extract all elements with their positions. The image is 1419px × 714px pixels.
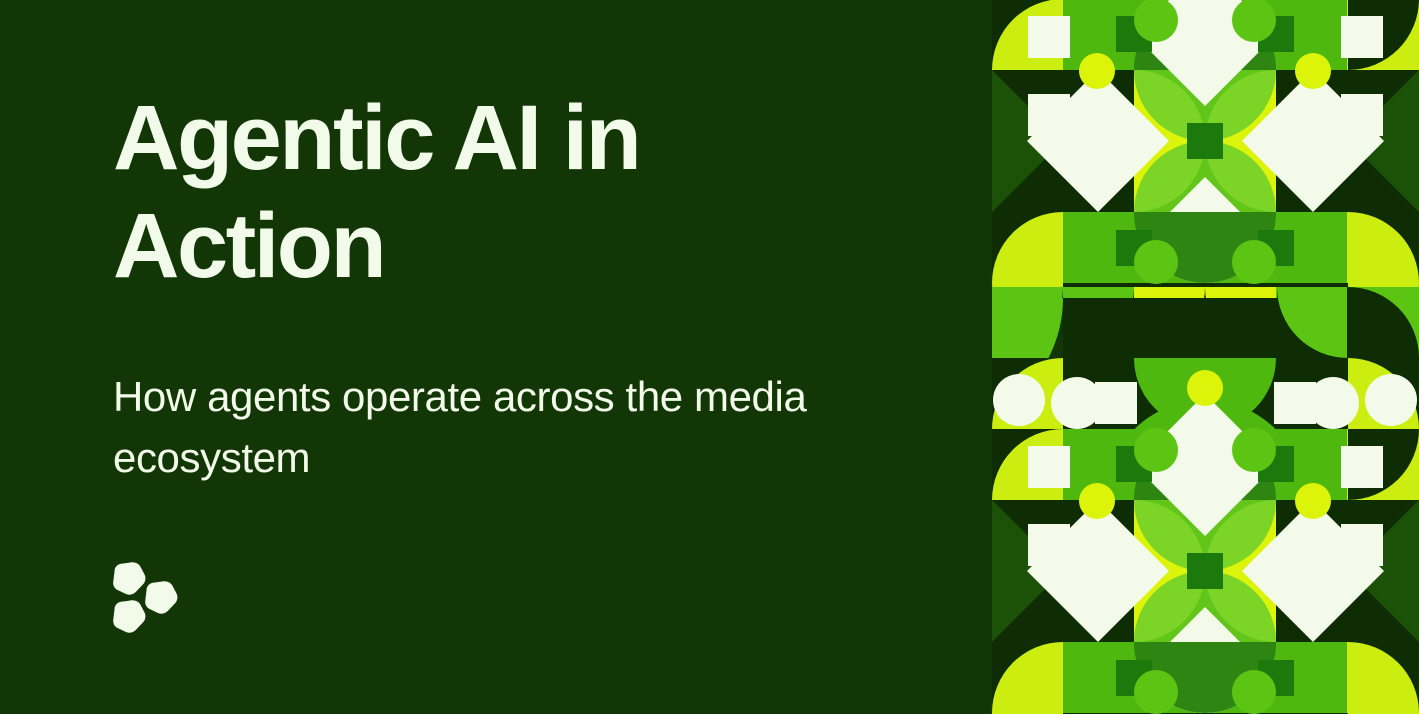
text-column: Agentic AI in Action How agents operate … — [0, 0, 992, 714]
slide-canvas: Agentic AI in Action How agents operate … — [0, 0, 1419, 714]
decorative-pattern-panel — [992, 0, 1419, 714]
three-hexagon-logo-icon — [110, 562, 180, 636]
page-subtitle: How agents operate across the media ecos… — [113, 366, 833, 488]
geometric-pattern-icon — [992, 0, 1419, 714]
page-title: Agentic AI in Action — [113, 84, 813, 300]
brand-logo — [110, 562, 180, 636]
